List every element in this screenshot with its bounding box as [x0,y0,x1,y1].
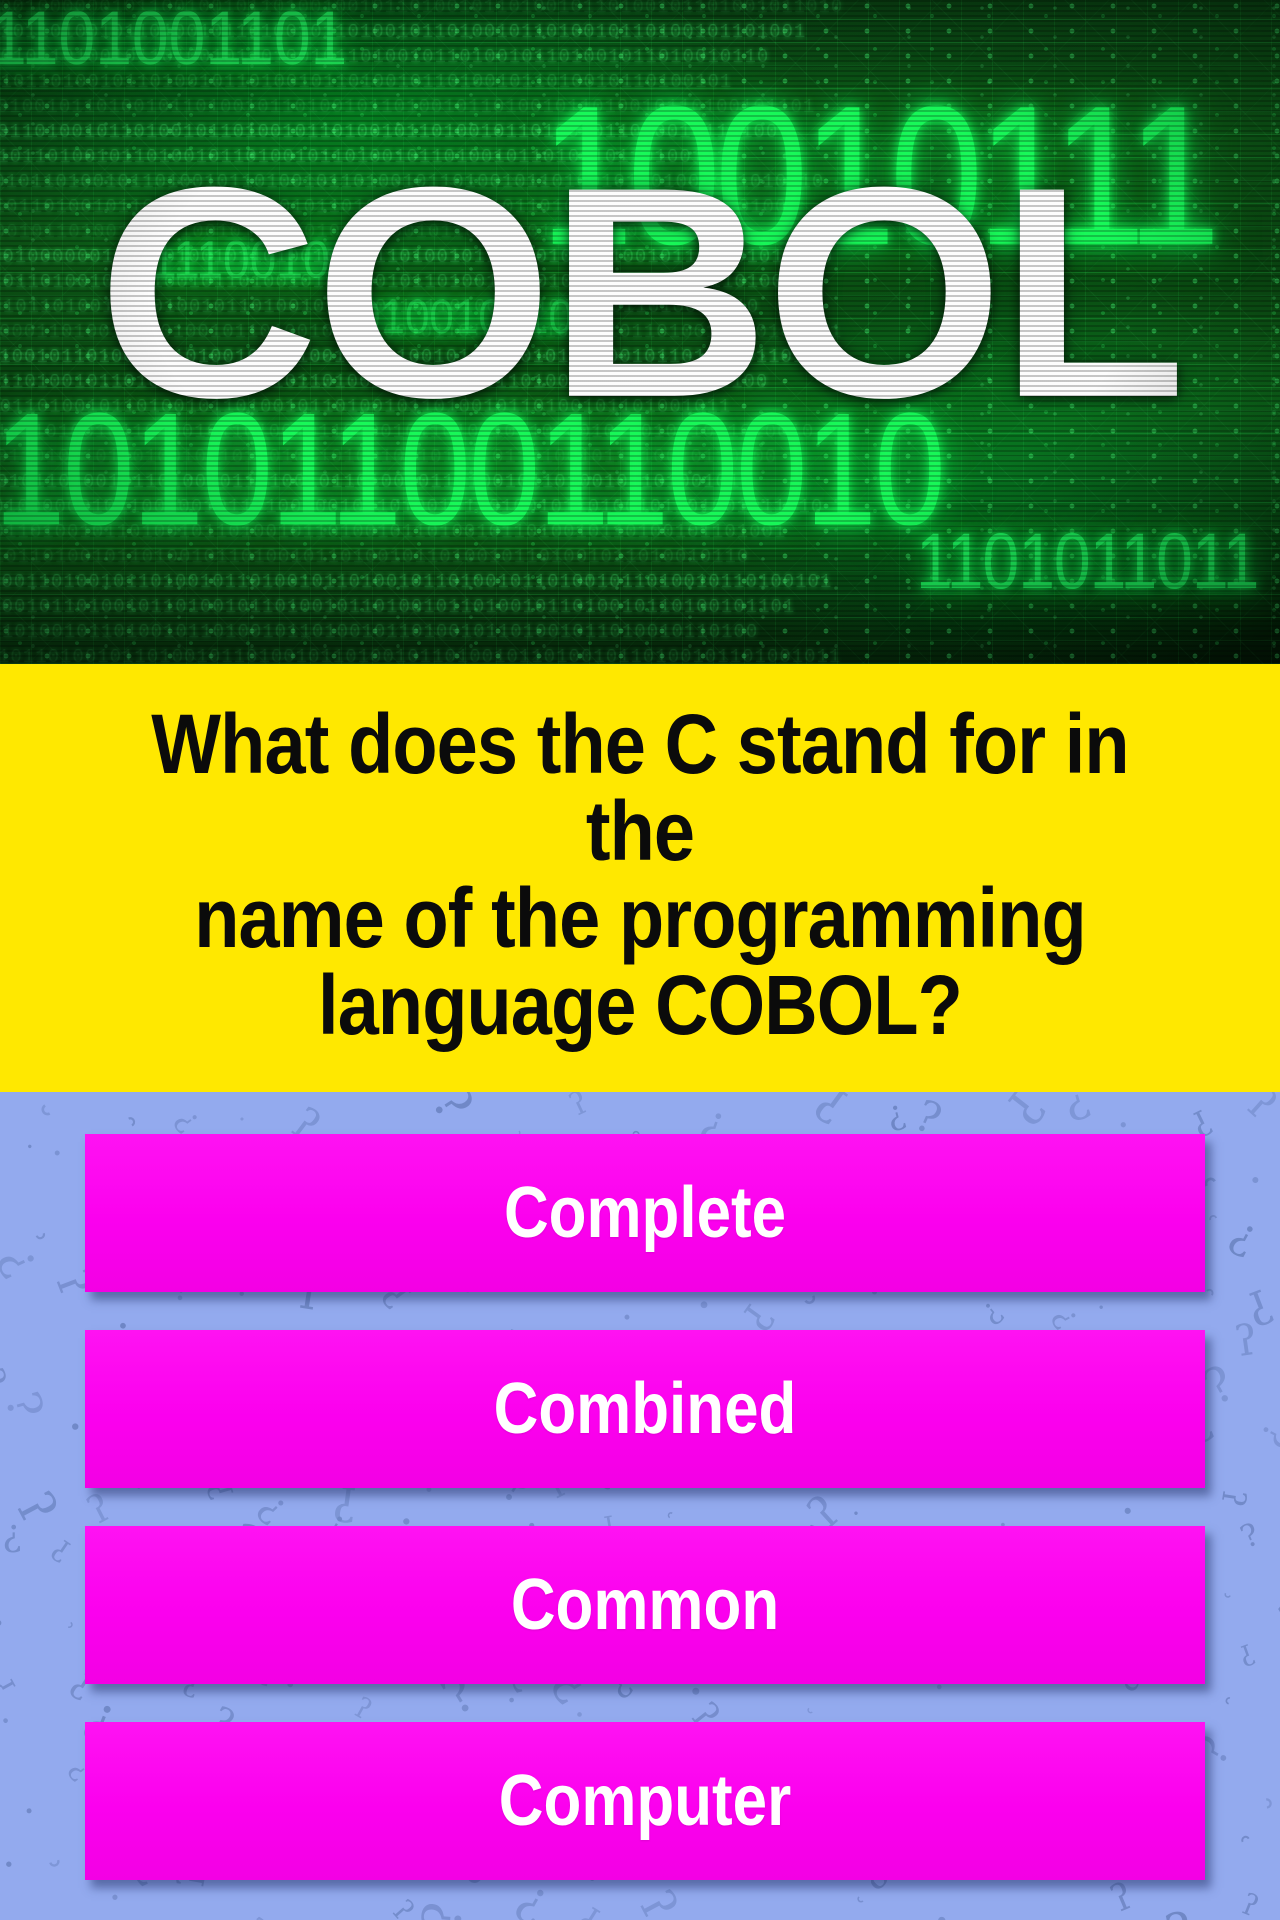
vignette-overlay [0,0,1280,664]
answer-button-stack: Complete Combined Common Computer [0,1092,1280,1920]
answer-option-2[interactable]: Combined [85,1330,1205,1488]
question-line-1: What does the C stand for in the [94,701,1185,875]
answer-option-4[interactable]: Computer [85,1722,1205,1880]
question-line-3: language COBOL? [94,962,1185,1049]
answer-option-1[interactable]: Complete [85,1134,1205,1292]
answer-option-2-label: Combined [494,1373,797,1445]
answer-option-4-label: Computer [499,1765,791,1837]
question-banner: What does the C stand for in the name of… [0,664,1280,1092]
hero-image: 0010000001011001001011010010010110100101… [0,0,1280,664]
question-text: What does the C stand for in the name of… [94,701,1185,1055]
question-line-2: name of the programming [94,875,1185,962]
answer-option-1-label: Complete [504,1177,786,1249]
answer-option-3-label: Common [511,1569,779,1641]
answer-options-area: •ʿʿ?•ʔʿ?ʿʔʿ?•ʔ??ʔ?·ʔʔʔ••ʔ?ʿʿʿʔʔʔ?ʿʔʿ?ʿ•ʿ… [0,1092,1280,1920]
quiz-page: 0010000001011001001011010010010110100101… [0,0,1280,1920]
answer-option-3[interactable]: Common [85,1526,1205,1684]
